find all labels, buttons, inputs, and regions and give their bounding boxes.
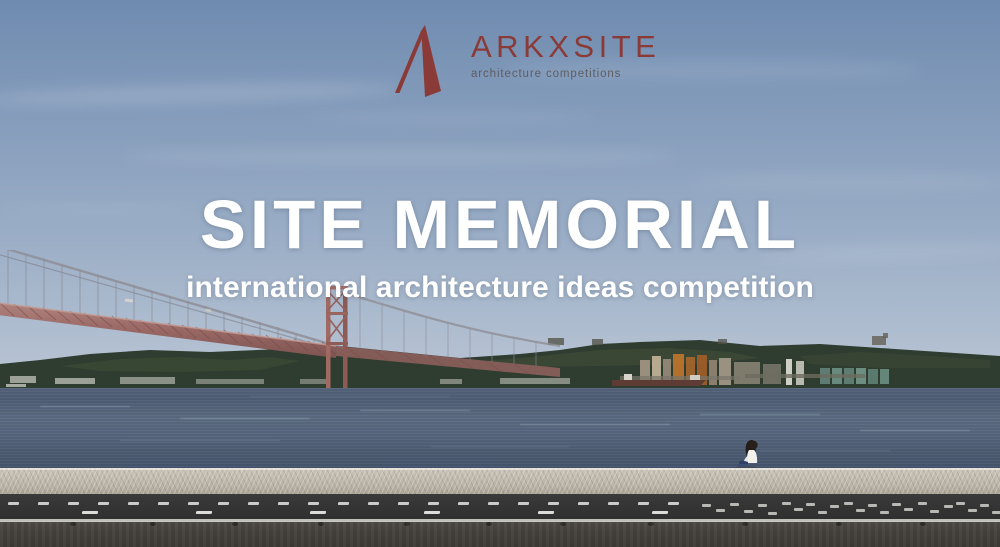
arkxsite-logo[interactable]: ARKXSITE architecture competitions (395, 25, 660, 97)
headline-block: SITE MEMORIAL international architecture… (0, 190, 1000, 303)
brand-name: ARKXSITE (471, 31, 660, 62)
arkxsite-a-mark-icon (395, 25, 457, 97)
cloud-wisp (120, 150, 680, 163)
cloud-wisp (0, 81, 400, 108)
river-water (0, 388, 1000, 473)
logo-wordmark: ARKXSITE architecture competitions (471, 25, 660, 81)
page-subtitle: international architecture ideas competi… (0, 273, 1000, 303)
page-title: SITE MEMORIAL (0, 190, 1000, 259)
cloud-wisp (300, 112, 600, 122)
bike-path (0, 494, 1000, 521)
promenade-edge (0, 468, 1000, 470)
stone-promenade (0, 468, 1000, 494)
competition-poster: ARKXSITE architecture competitions SITE … (0, 0, 1000, 547)
lower-road (0, 522, 1000, 547)
brand-tagline: architecture competitions (471, 69, 660, 81)
